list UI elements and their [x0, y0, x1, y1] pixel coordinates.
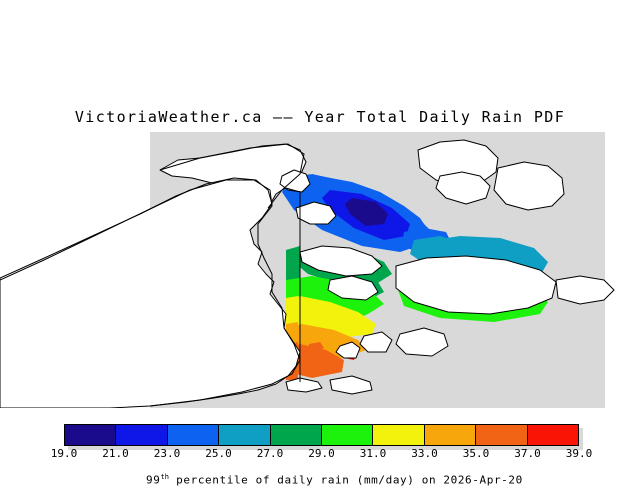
colorbar-tick-31.0: 31.0: [360, 447, 387, 460]
colorbar-segment-9: [528, 425, 578, 445]
colorbar-segment-2: [168, 425, 219, 445]
colorbar-tick-23.0: 23.0: [154, 447, 181, 460]
colorbar-tick-29.0: 29.0: [308, 447, 335, 460]
colorbar-tick-27.0: 27.0: [257, 447, 284, 460]
colorbar-segment-4: [271, 425, 322, 445]
colorbar-tick-25.0: 25.0: [205, 447, 232, 460]
colorbar-tick-33.0: 33.0: [411, 447, 438, 460]
colorbar-segment-6: [373, 425, 424, 445]
colorbar-tick-39.0: 39.0: [566, 447, 593, 460]
colorbar-segment-5: [322, 425, 373, 445]
rain-contour-map: [0, 132, 640, 408]
colorbar-tick-labels: 19.021.023.025.027.029.031.033.035.037.0…: [0, 447, 640, 461]
map-svg: [0, 132, 640, 408]
colorbar: [64, 424, 579, 446]
colorbar-segment-7: [425, 425, 476, 445]
colorbar-segment-3: [219, 425, 270, 445]
colorbar-segment-8: [476, 425, 527, 445]
screenshot-root: VictoriaWeather.ca —— Year Total Daily R…: [0, 0, 640, 480]
caption-prefix: 99: [146, 474, 160, 487]
page-title: VictoriaWeather.ca —— Year Total Daily R…: [0, 108, 640, 126]
caption-rest: percentile of daily rain (mm/day) on 202…: [169, 474, 523, 487]
colorbar-segment-1: [116, 425, 167, 445]
colorbar-tick-37.0: 37.0: [514, 447, 541, 460]
colorbar-segment-0: [65, 425, 116, 445]
colorbar-tick-21.0: 21.0: [102, 447, 129, 460]
colorbar-tick-19.0: 19.0: [51, 447, 78, 460]
colorbar-tick-35.0: 35.0: [463, 447, 490, 460]
colorbar-strip[interactable]: [64, 424, 579, 446]
